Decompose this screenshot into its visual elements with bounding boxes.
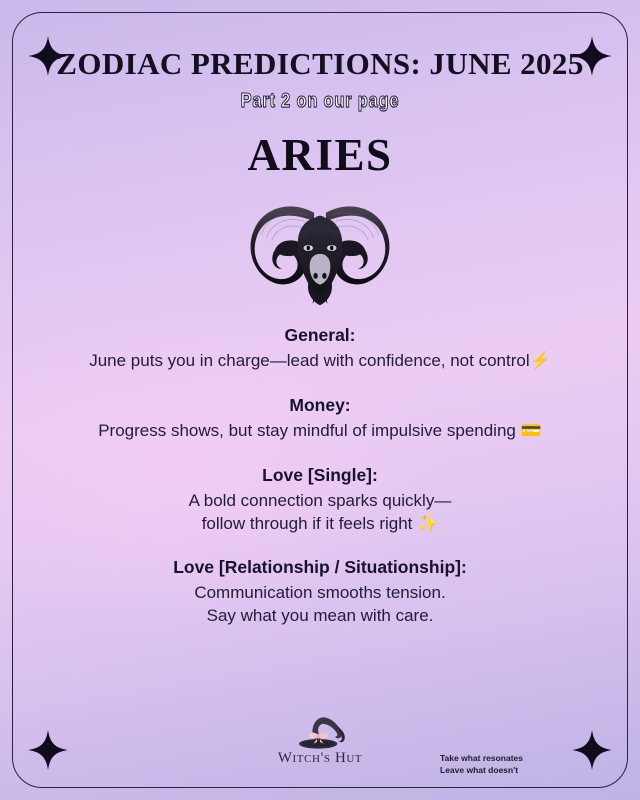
section-heading: Love [Single]: [26, 464, 614, 487]
disclaimer-line: Leave what doesn't [440, 764, 523, 776]
brand-name: Witch's Hut [0, 751, 640, 766]
section-love-single: Love [Single]: A bold connection sparks … [26, 464, 614, 536]
page-subtitle: Part 2 on our page [58, 79, 583, 111]
prediction-sections: General: June puts you in charge—lead wi… [0, 324, 640, 628]
disclaimer-text: Take what resonates Leave what doesn't [440, 752, 523, 777]
section-body-line: A bold connection sparks quickly— [26, 490, 614, 513]
zodiac-sign-name: ARIES [0, 111, 640, 178]
section-heading: Love [Relationship / Situationship]: [26, 556, 614, 579]
section-body-line: June puts you in charge—lead with confid… [26, 350, 614, 373]
section-money: Money: Progress shows, but stay mindful … [26, 394, 614, 443]
aries-ram-head-illustration [0, 184, 640, 312]
section-love-relationship: Love [Relationship / Situationship]: Com… [26, 556, 614, 628]
page-title: ZODIAC PREDICTIONS: JUNE 2025 [0, 0, 640, 79]
section-general: General: June puts you in charge—lead wi… [26, 324, 614, 373]
section-body-line: Communication smooths tension. [26, 582, 614, 605]
witch-hat-logo-icon [0, 706, 640, 750]
section-body-line: Progress shows, but stay mindful of impu… [26, 420, 614, 443]
section-heading: General: [26, 324, 614, 347]
section-body-line: follow through if it feels right ✨ [26, 513, 614, 536]
brand-mark: Witch's Hut [0, 706, 640, 766]
zodiac-prediction-poster: ZODIAC PREDICTIONS: JUNE 2025 Part 2 on … [0, 0, 640, 800]
disclaimer-line: Take what resonates [440, 752, 523, 764]
section-body-line: Say what you mean with care. [26, 605, 614, 628]
section-heading: Money: [26, 394, 614, 417]
poster-footer: Witch's Hut Take what resonates Leave wh… [0, 706, 640, 800]
